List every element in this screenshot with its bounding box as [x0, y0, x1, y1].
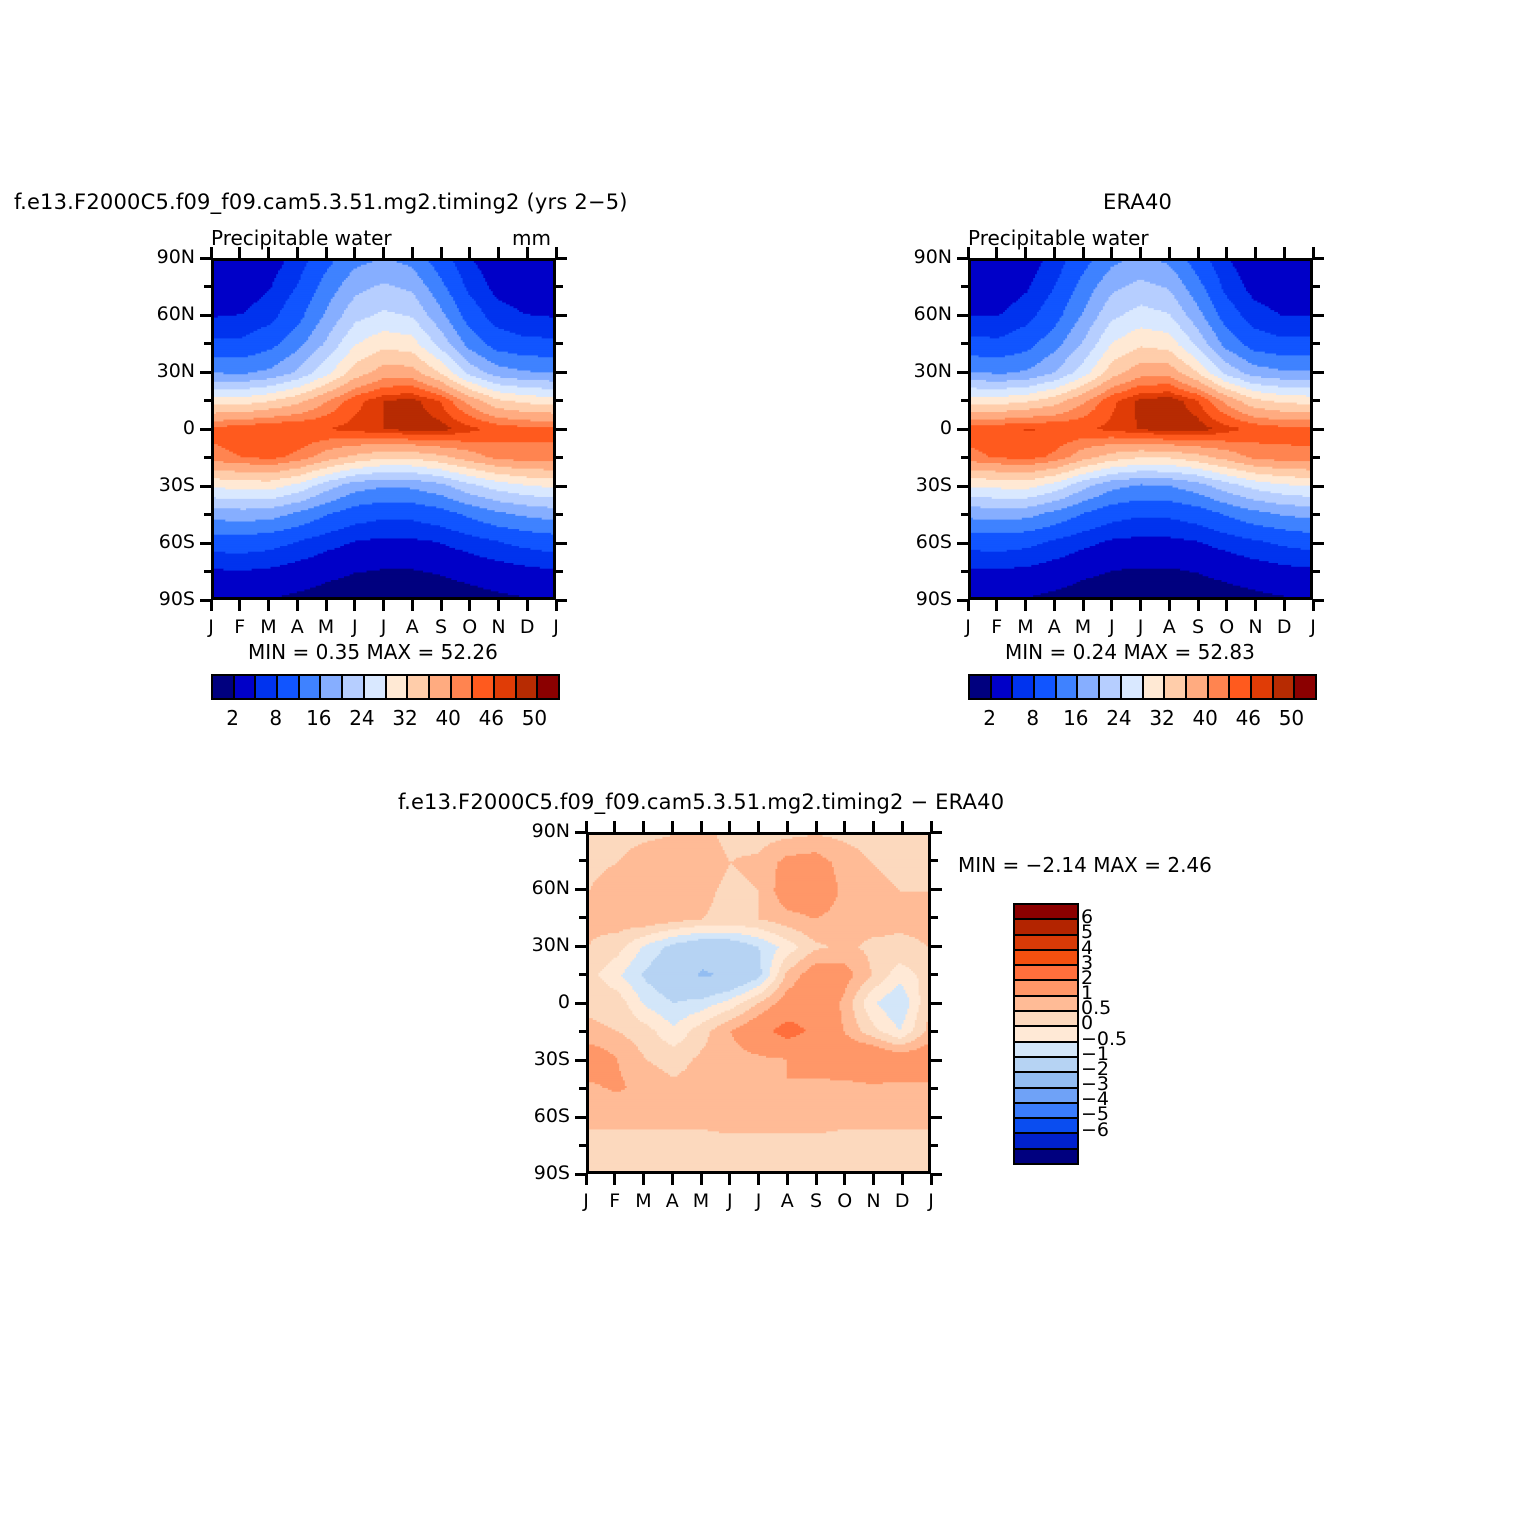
model-x-tick-top-4 [325, 247, 328, 259]
obs-x-label-0: J [952, 616, 984, 638]
model-x-tick-top-2 [267, 247, 270, 259]
model-colorbar-cell-13[interactable] [495, 676, 517, 698]
diff-y-tick-major-4 [575, 1059, 587, 1062]
diff-y-tick-minor-3 [579, 1030, 587, 1033]
model-contour-field [214, 261, 553, 597]
diff-y-tick-major-right-1 [930, 888, 942, 891]
obs-x-tick-bottom-10 [1254, 599, 1257, 611]
model-colorbar-label-7: 50 [512, 706, 556, 730]
obs-x-label-11: D [1268, 616, 1300, 638]
model-x-tick-top-6 [382, 247, 385, 259]
model-y-tick-major-5 [200, 542, 212, 545]
model-x-tick-bottom-8 [440, 599, 443, 611]
model-y-tick-major-right-5 [555, 542, 567, 545]
obs-minmax-text: MIN = 0.24 MAX = 52.83 [1005, 640, 1255, 664]
diff-colorbar-cell-15[interactable] [1015, 1134, 1077, 1149]
diff-x-tick-top-11 [901, 821, 904, 833]
obs-x-label-6: J [1125, 616, 1157, 638]
diff-x-label-0: J [570, 1190, 602, 1212]
model-minmax-text: MIN = 0.35 MAX = 52.26 [248, 640, 498, 664]
diff-y-label-0: 90N [508, 820, 570, 842]
diff-x-tick-bottom-4 [700, 1173, 703, 1185]
diff-x-tick-bottom-10 [872, 1173, 875, 1185]
diff-y-tick-major-5 [575, 1116, 587, 1119]
model-y-tick-major-right-4 [555, 485, 567, 488]
diff-x-tick-top-7 [786, 821, 789, 833]
model-y-tick-major-2 [200, 371, 212, 374]
model-y-label-0: 90N [133, 246, 195, 268]
model-colorbar-label-3: 24 [340, 706, 384, 730]
model-colorbar[interactable] [211, 674, 560, 700]
model-x-tick-top-5 [353, 247, 356, 259]
obs-y-tick-major-4 [957, 485, 969, 488]
diff-x-label-6: J [743, 1190, 775, 1212]
model-x-label-11: D [511, 616, 543, 638]
diff-y-tick-minor-right-0 [930, 859, 938, 862]
diff-x-label-3: A [656, 1190, 688, 1212]
diff-x-label-1: F [599, 1190, 631, 1212]
model-colorbar-cell-7[interactable] [365, 676, 387, 698]
diff-colorbar-cell-0[interactable] [1015, 905, 1077, 920]
model-colorbar-cell-2[interactable] [256, 676, 278, 698]
diff-x-tick-bottom-0 [585, 1173, 588, 1185]
diff-colorbar-cell-1[interactable] [1015, 920, 1077, 935]
obs-y-label-3: 0 [890, 417, 952, 439]
model-panel-title: f.e13.F2000C5.f09_f09.cam5.3.51.mg2.timi… [14, 190, 628, 214]
model-y-tick-minor-right-1 [555, 342, 563, 345]
obs-x-tick-top-8 [1197, 247, 1200, 259]
model-x-tick-bottom-1 [238, 599, 241, 611]
diff-colorbar-label-14: −6 [1081, 1119, 1139, 1141]
obs-colorbar-cell-14[interactable] [1274, 676, 1296, 698]
model-x-tick-bottom-11 [526, 599, 529, 611]
obs-x-tick-top-7 [1168, 247, 1171, 259]
diff-x-tick-top-4 [700, 821, 703, 833]
diff-x-tick-bottom-3 [671, 1173, 674, 1185]
obs-y-label-4: 30S [890, 474, 952, 496]
diff-x-tick-bottom-11 [901, 1173, 904, 1185]
diff-colorbar-cell-7[interactable] [1015, 1012, 1077, 1027]
model-y-tick-major-right-3 [555, 428, 567, 431]
model-x-label-6: J [368, 616, 400, 638]
model-x-tick-top-0 [210, 247, 213, 259]
model-y-tick-minor-5 [204, 570, 212, 573]
diff-y-tick-minor-right-3 [930, 1030, 938, 1033]
model-colorbar-cell-1[interactable] [235, 676, 257, 698]
obs-x-tick-top-5 [1110, 247, 1113, 259]
model-y-tick-minor-right-3 [555, 456, 563, 459]
model-units-label: mm [512, 226, 551, 250]
model-contour-plot [211, 258, 556, 600]
diff-y-tick-major-right-3 [930, 1002, 942, 1005]
model-y-tick-major-right-1 [555, 314, 567, 317]
model-x-tick-top-7 [411, 247, 414, 259]
obs-colorbar-cell-4[interactable] [1057, 676, 1079, 698]
obs-colorbar-label-2: 16 [1054, 706, 1098, 730]
diff-y-tick-major-1 [575, 888, 587, 891]
model-y-tick-minor-right-5 [555, 570, 563, 573]
obs-colorbar-cell-8[interactable] [1144, 676, 1166, 698]
diff-contour-plot [586, 832, 931, 1174]
obs-contour-field [971, 261, 1310, 597]
obs-colorbar-label-0: 2 [968, 706, 1012, 730]
model-colorbar-cell-11[interactable] [452, 676, 474, 698]
obs-y-label-0: 90N [890, 246, 952, 268]
diff-colorbar-cell-3[interactable] [1015, 951, 1077, 966]
obs-x-tick-bottom-12 [1312, 599, 1315, 611]
obs-x-tick-bottom-9 [1225, 599, 1228, 611]
diff-colorbar-cell-9[interactable] [1015, 1043, 1077, 1058]
diff-x-tick-bottom-5 [728, 1173, 731, 1185]
model-x-tick-top-9 [468, 247, 471, 259]
model-x-label-2: M [253, 616, 285, 638]
obs-x-tick-top-4 [1082, 247, 1085, 259]
model-x-label-3: A [281, 616, 313, 638]
obs-x-label-7: A [1153, 616, 1185, 638]
obs-colorbar-cell-1[interactable] [992, 676, 1014, 698]
obs-x-tick-bottom-8 [1197, 599, 1200, 611]
diff-colorbar-cell-2[interactable] [1015, 936, 1077, 951]
obs-y-tick-major-right-1 [1312, 314, 1324, 317]
diff-y-label-4: 30S [508, 1048, 570, 1070]
obs-x-tick-top-11 [1283, 247, 1286, 259]
diff-y-tick-minor-right-4 [930, 1087, 938, 1090]
model-x-label-7: A [396, 616, 428, 638]
diff-colorbar-cell-10[interactable] [1015, 1058, 1077, 1073]
diff-x-label-8: S [800, 1190, 832, 1212]
obs-colorbar-cell-15[interactable] [1295, 676, 1315, 698]
obs-y-tick-minor-0 [961, 285, 969, 288]
obs-panel-title: ERA40 [1103, 190, 1172, 214]
diff-x-label-10: N [858, 1190, 890, 1212]
obs-colorbar-cell-9[interactable] [1165, 676, 1187, 698]
diff-colorbar-cell-8[interactable] [1015, 1027, 1077, 1042]
obs-colorbar-label-1: 8 [1011, 706, 1055, 730]
diff-x-tick-top-12 [930, 821, 933, 833]
diff-y-tick-major-2 [575, 945, 587, 948]
model-colorbar-cell-4[interactable] [300, 676, 322, 698]
diff-y-label-2: 30N [508, 934, 570, 956]
model-x-tick-top-3 [296, 247, 299, 259]
model-x-tick-top-11 [526, 247, 529, 259]
diff-x-label-5: J [714, 1190, 746, 1212]
model-colorbar-label-6: 46 [469, 706, 513, 730]
obs-y-tick-minor-4 [961, 513, 969, 516]
diff-colorbar-cell-11[interactable] [1015, 1073, 1077, 1088]
diff-y-tick-major-right-2 [930, 945, 942, 948]
obs-x-label-2: M [1010, 616, 1042, 638]
diff-colorbar-cell-13[interactable] [1015, 1104, 1077, 1119]
obs-x-tick-bottom-7 [1168, 599, 1171, 611]
model-colorbar-label-5: 40 [426, 706, 470, 730]
diff-x-label-9: O [829, 1190, 861, 1212]
obs-x-tick-bottom-0 [967, 599, 970, 611]
obs-x-tick-top-3 [1053, 247, 1056, 259]
diff-x-tick-bottom-8 [815, 1173, 818, 1185]
model-colorbar-cell-3[interactable] [278, 676, 300, 698]
obs-y-tick-major-right-2 [1312, 371, 1324, 374]
obs-colorbar-cell-11[interactable] [1209, 676, 1231, 698]
diff-x-tick-bottom-12 [930, 1173, 933, 1185]
model-x-tick-top-8 [440, 247, 443, 259]
obs-x-tick-bottom-1 [995, 599, 998, 611]
obs-colorbar-cell-5[interactable] [1078, 676, 1100, 698]
model-x-tick-top-1 [238, 247, 241, 259]
diff-x-tick-bottom-2 [642, 1173, 645, 1185]
obs-y-tick-minor-right-1 [1312, 342, 1320, 345]
model-x-tick-bottom-10 [497, 599, 500, 611]
obs-y-tick-minor-right-5 [1312, 570, 1320, 573]
obs-x-tick-bottom-11 [1283, 599, 1286, 611]
model-colorbar-label-0: 2 [211, 706, 255, 730]
diff-y-tick-minor-1 [579, 916, 587, 919]
obs-y-tick-major-3 [957, 428, 969, 431]
model-y-tick-major-1 [200, 314, 212, 317]
obs-y-label-2: 30N [890, 360, 952, 382]
model-y-label-1: 60N [133, 303, 195, 325]
diff-x-tick-top-6 [757, 821, 760, 833]
obs-x-tick-bottom-6 [1139, 599, 1142, 611]
diff-x-tick-top-3 [671, 821, 674, 833]
obs-x-tick-top-2 [1024, 247, 1027, 259]
obs-x-label-3: A [1038, 616, 1070, 638]
model-colorbar-cell-9[interactable] [408, 676, 430, 698]
obs-colorbar-label-4: 32 [1140, 706, 1184, 730]
diff-panel-title: f.e13.F2000C5.f09_f09.cam5.3.51.mg2.timi… [398, 790, 1004, 814]
obs-x-tick-top-12 [1312, 247, 1315, 259]
obs-x-tick-top-10 [1254, 247, 1257, 259]
diff-colorbar-cell-6[interactable] [1015, 997, 1077, 1012]
model-y-tick-minor-right-0 [555, 285, 563, 288]
obs-y-tick-major-right-4 [1312, 485, 1324, 488]
diff-y-label-3: 0 [508, 991, 570, 1013]
model-colorbar-cell-6[interactable] [343, 676, 365, 698]
obs-y-tick-minor-right-2 [1312, 399, 1320, 402]
obs-y-tick-minor-1 [961, 342, 969, 345]
obs-colorbar-label-5: 40 [1183, 706, 1227, 730]
model-x-tick-bottom-0 [210, 599, 213, 611]
obs-x-label-5: J [1096, 616, 1128, 638]
obs-y-tick-major-5 [957, 542, 969, 545]
model-x-label-12: J [540, 616, 572, 638]
obs-colorbar-cell-13[interactable] [1252, 676, 1274, 698]
model-x-label-9: O [454, 616, 486, 638]
model-y-tick-minor-0 [204, 285, 212, 288]
diff-x-tick-top-1 [613, 821, 616, 833]
model-y-label-6: 90S [133, 588, 195, 610]
model-x-tick-bottom-5 [353, 599, 356, 611]
obs-x-tick-top-1 [995, 247, 998, 259]
obs-x-tick-top-9 [1225, 247, 1228, 259]
diff-y-tick-minor-right-2 [930, 973, 938, 976]
model-y-tick-minor-right-2 [555, 399, 563, 402]
obs-y-tick-minor-right-4 [1312, 513, 1320, 516]
diff-x-tick-bottom-9 [843, 1173, 846, 1185]
model-y-label-5: 60S [133, 531, 195, 553]
diff-y-tick-major-right-5 [930, 1116, 942, 1119]
diff-minmax-text: MIN = −2.14 MAX = 2.46 [958, 853, 1212, 877]
model-y-tick-major-4 [200, 485, 212, 488]
diff-x-label-11: D [886, 1190, 918, 1212]
model-x-tick-top-12 [555, 247, 558, 259]
diff-x-tick-bottom-1 [613, 1173, 616, 1185]
diff-y-label-1: 60N [508, 877, 570, 899]
model-y-tick-minor-1 [204, 342, 212, 345]
model-x-tick-bottom-9 [468, 599, 471, 611]
diff-colorbar-cell-5[interactable] [1015, 981, 1077, 996]
obs-x-label-12: J [1297, 616, 1329, 638]
obs-y-label-1: 60N [890, 303, 952, 325]
model-y-tick-minor-3 [204, 456, 212, 459]
diff-x-tick-top-2 [642, 821, 645, 833]
model-colorbar-cell-10[interactable] [430, 676, 452, 698]
diff-x-label-7: A [771, 1190, 803, 1212]
obs-colorbar-cell-2[interactable] [1013, 676, 1035, 698]
obs-y-tick-minor-right-0 [1312, 285, 1320, 288]
model-x-label-0: J [195, 616, 227, 638]
diff-y-tick-minor-right-1 [930, 916, 938, 919]
model-y-tick-major-right-2 [555, 371, 567, 374]
model-y-tick-minor-4 [204, 513, 212, 516]
diff-colorbar-cell-12[interactable] [1015, 1089, 1077, 1104]
diff-x-tick-top-9 [843, 821, 846, 833]
model-x-tick-bottom-12 [555, 599, 558, 611]
model-x-label-8: S [425, 616, 457, 638]
obs-x-label-1: F [981, 616, 1013, 638]
obs-x-tick-bottom-5 [1110, 599, 1113, 611]
diff-y-tick-major-right-4 [930, 1059, 942, 1062]
diff-y-tick-minor-right-5 [930, 1144, 938, 1147]
model-x-tick-top-10 [497, 247, 500, 259]
diff-y-tick-minor-5 [579, 1144, 587, 1147]
diff-contour-field [589, 835, 928, 1171]
diff-x-tick-bottom-6 [757, 1173, 760, 1185]
obs-colorbar-label-3: 24 [1097, 706, 1141, 730]
model-colorbar-cell-0[interactable] [213, 676, 235, 698]
obs-x-label-9: O [1211, 616, 1243, 638]
diff-x-tick-top-10 [872, 821, 875, 833]
model-colorbar-label-1: 8 [254, 706, 298, 730]
obs-colorbar-cell-7[interactable] [1122, 676, 1144, 698]
obs-y-tick-major-2 [957, 371, 969, 374]
diff-y-tick-minor-4 [579, 1087, 587, 1090]
model-colorbar-cell-15[interactable] [538, 676, 558, 698]
diff-x-tick-top-5 [728, 821, 731, 833]
obs-x-tick-bottom-3 [1053, 599, 1056, 611]
diff-x-label-2: M [628, 1190, 660, 1212]
model-x-tick-bottom-3 [296, 599, 299, 611]
model-y-tick-major-3 [200, 428, 212, 431]
model-colorbar-cell-5[interactable] [321, 676, 343, 698]
obs-y-tick-minor-right-3 [1312, 456, 1320, 459]
model-x-tick-bottom-7 [411, 599, 414, 611]
obs-colorbar-cell-3[interactable] [1035, 676, 1057, 698]
obs-x-tick-bottom-4 [1082, 599, 1085, 611]
model-x-label-1: F [224, 616, 256, 638]
diff-y-tick-minor-2 [579, 973, 587, 976]
obs-x-label-10: N [1240, 616, 1272, 638]
model-x-tick-bottom-4 [325, 599, 328, 611]
obs-x-label-8: S [1182, 616, 1214, 638]
diff-x-label-12: J [915, 1190, 947, 1212]
obs-colorbar-label-6: 46 [1226, 706, 1270, 730]
model-colorbar-cell-12[interactable] [473, 676, 495, 698]
obs-y-tick-minor-5 [961, 570, 969, 573]
model-x-label-5: J [339, 616, 371, 638]
model-x-label-10: N [483, 616, 515, 638]
obs-contour-plot [968, 258, 1313, 600]
model-y-tick-minor-right-4 [555, 513, 563, 516]
obs-colorbar-cell-12[interactable] [1230, 676, 1252, 698]
model-colorbar-cell-14[interactable] [517, 676, 539, 698]
obs-colorbar-label-7: 50 [1269, 706, 1313, 730]
diff-x-label-4: M [685, 1190, 717, 1212]
obs-y-tick-minor-3 [961, 456, 969, 459]
obs-y-label-5: 60S [890, 531, 952, 553]
model-x-tick-bottom-6 [382, 599, 385, 611]
model-colorbar-cell-8[interactable] [387, 676, 409, 698]
model-colorbar-label-2: 16 [297, 706, 341, 730]
diff-x-tick-top-0 [585, 821, 588, 833]
obs-y-tick-major-right-5 [1312, 542, 1324, 545]
obs-x-tick-top-0 [967, 247, 970, 259]
diff-colorbar-cell-14[interactable] [1015, 1119, 1077, 1134]
diff-y-label-5: 60S [508, 1105, 570, 1127]
diff-colorbar-cell-16[interactable] [1015, 1150, 1077, 1163]
diff-y-tick-minor-0 [579, 859, 587, 862]
diff-x-tick-bottom-7 [786, 1173, 789, 1185]
obs-x-tick-top-6 [1139, 247, 1142, 259]
obs-y-label-6: 90S [890, 588, 952, 610]
obs-x-tick-bottom-2 [1024, 599, 1027, 611]
obs-colorbar-cell-6[interactable] [1100, 676, 1122, 698]
diff-y-tick-major-3 [575, 1002, 587, 1005]
obs-colorbar-cell-0[interactable] [970, 676, 992, 698]
obs-colorbar-cell-10[interactable] [1187, 676, 1209, 698]
obs-y-tick-major-right-3 [1312, 428, 1324, 431]
model-y-label-2: 30N [133, 360, 195, 382]
obs-colorbar[interactable] [968, 674, 1317, 700]
model-y-label-3: 0 [133, 417, 195, 439]
model-x-label-4: M [310, 616, 342, 638]
diff-colorbar[interactable] [1013, 903, 1079, 1165]
diff-x-tick-top-8 [815, 821, 818, 833]
diff-colorbar-cell-4[interactable] [1015, 966, 1077, 981]
model-y-tick-minor-2 [204, 399, 212, 402]
obs-x-label-4: M [1067, 616, 1099, 638]
obs-y-tick-major-1 [957, 314, 969, 317]
model-y-label-4: 30S [133, 474, 195, 496]
model-x-tick-bottom-2 [267, 599, 270, 611]
model-colorbar-label-4: 32 [383, 706, 427, 730]
obs-y-tick-minor-2 [961, 399, 969, 402]
diff-y-label-6: 90S [508, 1162, 570, 1184]
